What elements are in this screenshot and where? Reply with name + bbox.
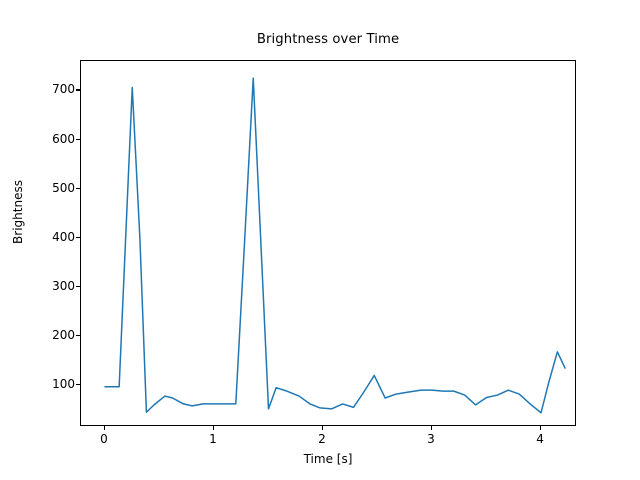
y-axis-label: Brightness [11,132,25,292]
x-tick-mark [540,426,541,430]
y-tick-mark [76,89,80,90]
x-tick-mark [322,426,323,430]
x-tick-mark [431,426,432,430]
y-tick-mark [76,139,80,140]
y-tick-mark [76,237,80,238]
matplotlib-figure: Brightness over Time 1002003004005006007… [0,0,640,480]
axis-tick-marks [0,0,640,480]
y-tick-mark [76,286,80,287]
y-tick-mark [76,335,80,336]
y-tick-mark [76,384,80,385]
x-tick-mark [213,426,214,430]
y-tick-mark [76,188,80,189]
x-axis-label: Time [s] [80,452,576,466]
x-tick-mark [104,426,105,430]
